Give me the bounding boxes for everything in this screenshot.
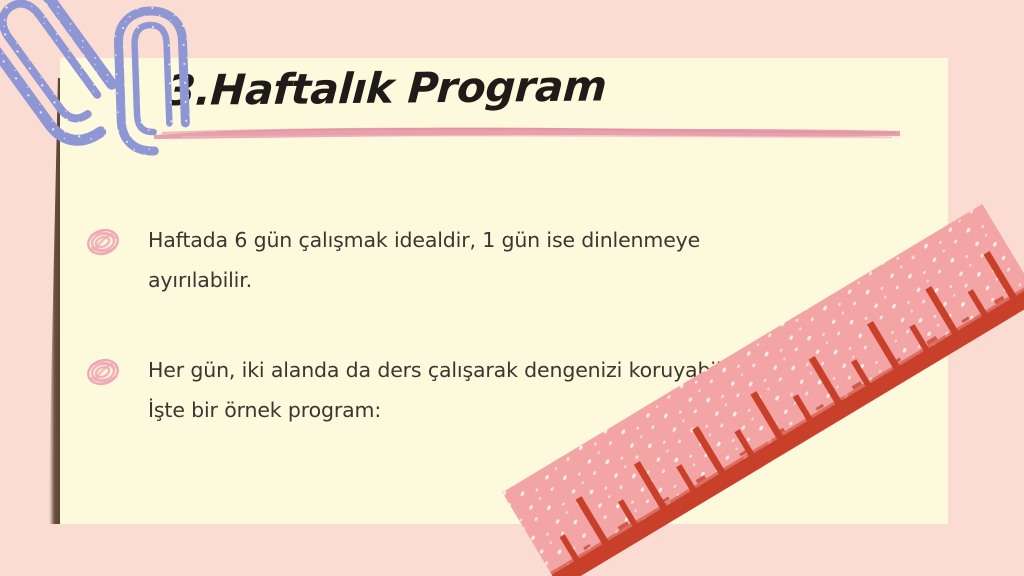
list-item: Her gün, iki alanda da ders çalışarak de… <box>82 350 771 430</box>
list-item: Haftada 6 gün çalışmak idealdir, 1 gün i… <box>82 220 700 300</box>
scribble-oval-doodle-icon <box>82 222 124 262</box>
scribble-oval-doodle-icon <box>82 352 124 392</box>
slide-canvas: 3.Haftalık Program Haftada 6 gün çalışma… <box>0 0 1024 576</box>
list-item-text: Haftada 6 gün çalışmak idealdir, 1 gün i… <box>148 220 700 300</box>
page-title: 3.Haftalık Program <box>165 61 608 115</box>
brush-underline <box>152 124 904 140</box>
list-item-text: Her gün, iki alanda da ders çalışarak de… <box>148 350 771 430</box>
paperclip-icon <box>89 2 215 166</box>
